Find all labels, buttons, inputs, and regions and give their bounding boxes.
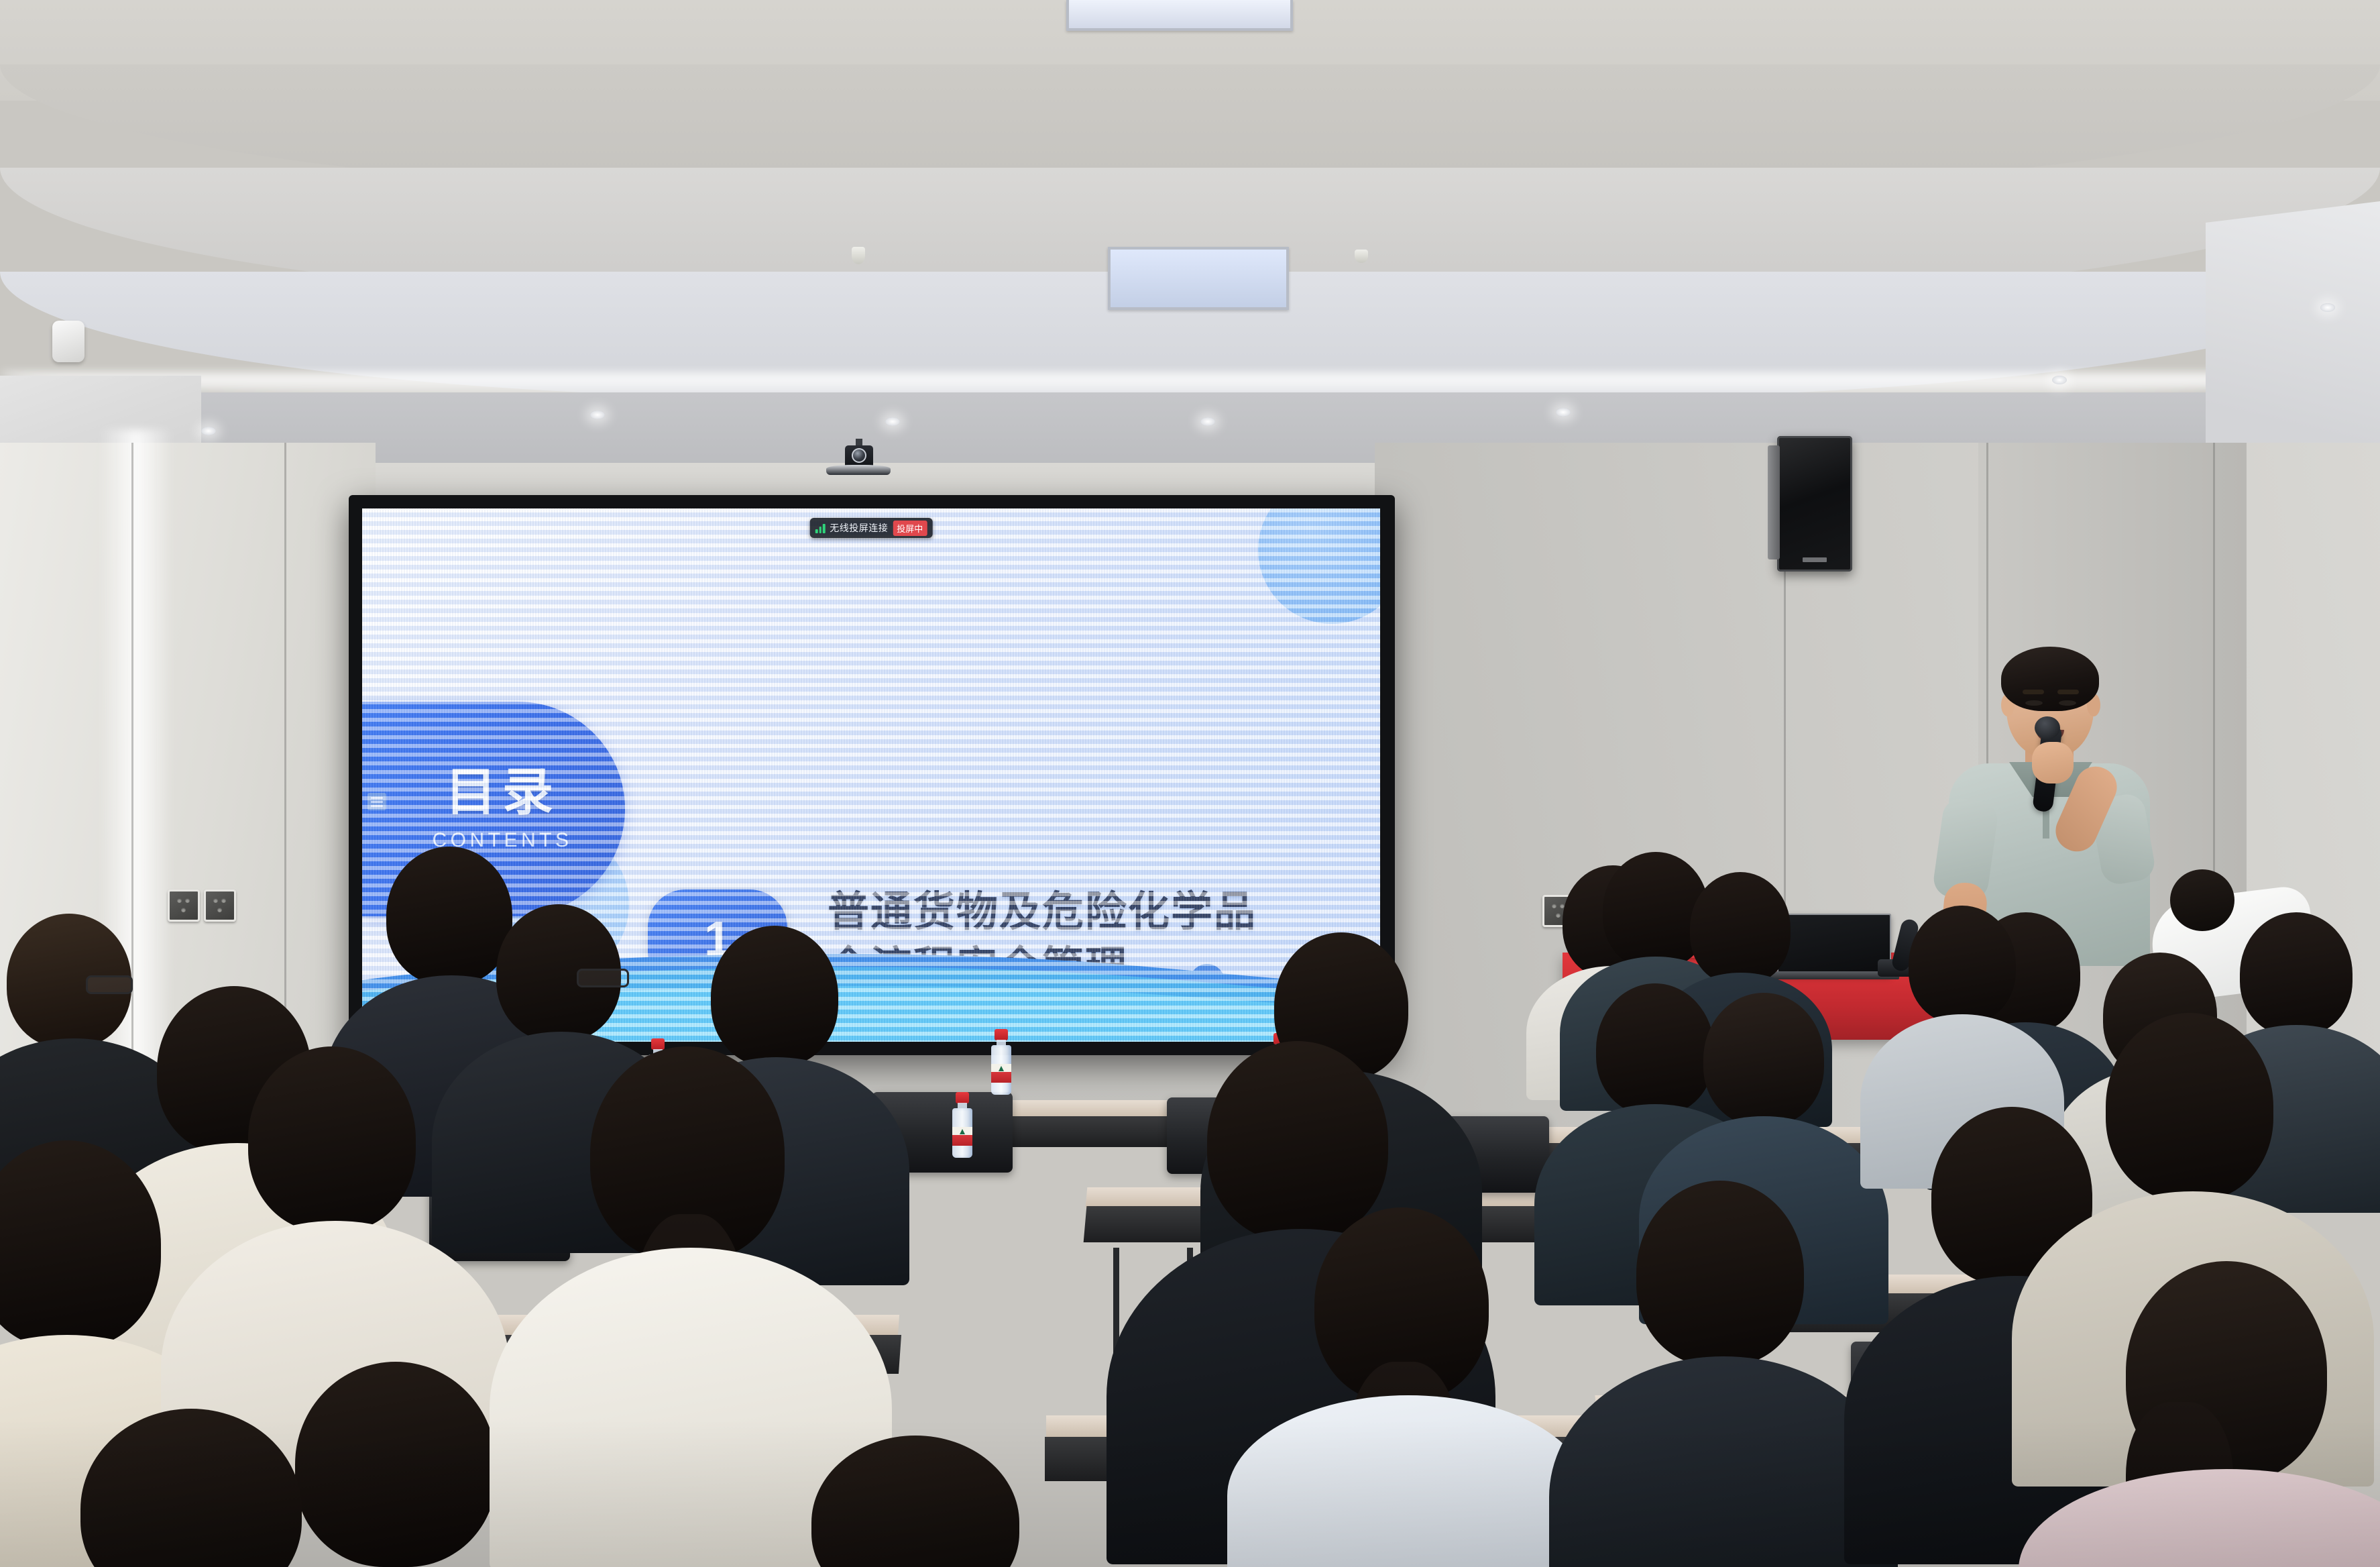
head — [2106, 1013, 2273, 1201]
smoke-detector-icon — [52, 321, 84, 362]
microphone-head — [2035, 716, 2060, 739]
bottle-cap — [956, 1092, 969, 1103]
signal-bars-icon — [815, 523, 826, 533]
ptz-conference-camera-icon — [826, 445, 891, 475]
water-bottle — [991, 1029, 1011, 1095]
water-bottle — [952, 1092, 972, 1158]
head — [1596, 983, 1714, 1115]
head — [386, 847, 512, 985]
downlight-icon — [201, 427, 216, 435]
wall-panel-seam — [131, 443, 133, 1154]
ceiling-air-vent-icon — [1066, 0, 1293, 31]
slide-edge-menu-icon[interactable] — [367, 793, 386, 810]
head — [2240, 912, 2353, 1036]
head — [1703, 993, 1824, 1126]
presenter-eyebrow-left — [2023, 690, 2044, 694]
head — [1636, 1181, 1804, 1366]
presenter-hand — [2032, 742, 2074, 783]
downlight-icon — [590, 411, 605, 419]
room-photo-scene: 目录 CONTENTS 1 普通货物及危险化学品全流程安全管理 2 合同条款设计… — [0, 0, 2380, 1567]
speaker-brand-logo — [1803, 557, 1827, 562]
bottle-label — [991, 1064, 1011, 1083]
head — [1207, 1041, 1388, 1241]
glasses-icon — [86, 975, 133, 994]
bottle-label — [952, 1127, 972, 1146]
sprinkler-icon — [852, 247, 865, 264]
head — [248, 1046, 416, 1232]
speaker-bracket — [1768, 445, 1780, 559]
downlight-icon — [2320, 303, 2335, 312]
camera-base — [826, 465, 891, 475]
presenter-eye-right — [2059, 700, 2076, 706]
downlight-icon — [885, 417, 900, 426]
head — [1690, 872, 1791, 985]
glasses-icon — [577, 969, 629, 987]
presenter-eye-left — [2025, 700, 2043, 706]
head — [295, 1362, 496, 1567]
bottle-cap — [995, 1029, 1008, 1040]
sprinkler-icon — [1355, 250, 1368, 263]
head — [1909, 906, 2016, 1024]
bottle-cap — [651, 1038, 665, 1050]
toc-item-list: 1 普通货物及危险化学品全流程安全管理 2 合同条款设计与责任划分 3 典型案例… — [642, 690, 1353, 961]
downlight-icon — [1200, 417, 1215, 426]
laptop-icon — [1777, 914, 1891, 975]
status-bar-text: 无线投屏连接 — [830, 521, 888, 535]
downlight-icon — [2052, 376, 2067, 384]
decor-circle-top-right — [1258, 508, 1380, 624]
wall-socket-icon[interactable] — [204, 889, 236, 922]
status-badge: 投屏中 — [893, 521, 927, 536]
wall-speaker-icon — [1777, 436, 1852, 572]
downlight-icon — [1556, 408, 1571, 417]
wall-socket-icon[interactable] — [168, 889, 200, 922]
toc-title-cn: 目录 — [445, 767, 559, 818]
presenter-eyebrow-right — [2057, 690, 2079, 694]
head — [711, 926, 838, 1067]
assistant-head — [2170, 869, 2234, 931]
presenter-hair — [2001, 647, 2099, 711]
camera-lens — [852, 448, 866, 463]
ceiling-light-panel-icon — [1108, 247, 1289, 310]
screen-share-status-bar: 无线投屏连接 投屏中 — [810, 518, 933, 538]
